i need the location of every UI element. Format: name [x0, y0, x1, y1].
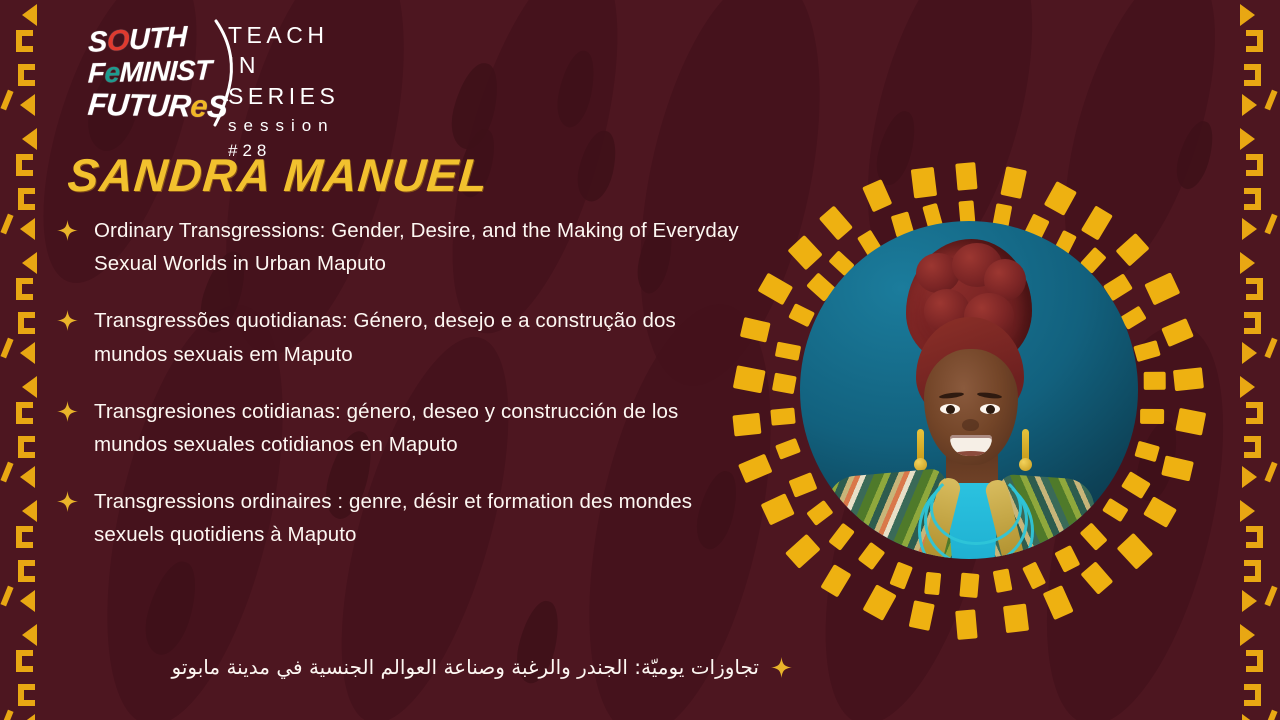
frame-dash [1173, 367, 1204, 391]
frame-dash [1081, 205, 1113, 240]
border-pattern-unit [0, 186, 46, 248]
border-pattern-unit [1234, 496, 1280, 558]
border-pattern-unit [0, 434, 46, 496]
border-pattern-unit [0, 558, 46, 620]
frame-dash [1140, 409, 1164, 424]
frame-dash [788, 303, 815, 327]
earring-right [1022, 429, 1029, 463]
frame-dash [1144, 372, 1166, 390]
frame-dash [770, 407, 795, 426]
title-item-fr: Transgressions ordinaires : genre, désir… [52, 485, 752, 551]
sparkle-icon [57, 491, 78, 512]
border-pattern-unit [1234, 620, 1280, 682]
frame-dash [1080, 561, 1113, 594]
frame-dash [1144, 272, 1180, 305]
speaker-name: Sandra Manuel [66, 148, 491, 202]
border-pattern-unit [0, 248, 46, 310]
sparkle-icon [57, 310, 78, 331]
teach-in-series-header: TEACH IN SERIES session #28 [228, 20, 339, 163]
frame-dash [889, 561, 913, 589]
frame-dash [862, 584, 896, 620]
border-pattern-unit [1234, 558, 1280, 620]
sparkle-icon [57, 401, 78, 422]
border-pattern-unit [0, 372, 46, 434]
title-text-en: Ordinary Transgressions: Gender, Desire,… [94, 214, 752, 280]
frame-dash [820, 564, 851, 597]
frame-dash [1001, 166, 1028, 199]
border-pattern-unit [0, 310, 46, 372]
border-pattern-unit [1234, 186, 1280, 248]
title-item-pt: Transgressões quotidianas: Género, desej… [52, 304, 752, 370]
frame-dash [1161, 455, 1194, 481]
border-pattern-unit [0, 682, 46, 720]
frame-dash [1116, 532, 1152, 569]
frame-dash [772, 373, 797, 394]
frame-dash [774, 342, 800, 361]
border-pattern-unit [0, 496, 46, 558]
frame-dash [955, 609, 977, 640]
frame-dash [1175, 407, 1206, 435]
frame-dash [960, 573, 980, 598]
frame-dash [955, 162, 977, 191]
border-pattern-right [1234, 0, 1280, 720]
frame-dash [760, 493, 794, 525]
title-text-es: Transgresiones cotidianas: género, deseo… [94, 395, 752, 461]
border-pattern-unit [1234, 434, 1280, 496]
sparkle-icon [771, 657, 792, 678]
frame-dash [1116, 232, 1150, 266]
frame-dash [775, 438, 801, 460]
frame-dash [992, 568, 1012, 593]
frame-dash [1121, 471, 1151, 499]
frame-dash [1133, 340, 1161, 362]
earring-left [917, 429, 924, 463]
logo-line-feminist: FeMINIST [87, 56, 212, 87]
border-pattern-unit [1234, 124, 1280, 186]
frame-dash [1143, 496, 1177, 528]
frame-dash [1043, 585, 1074, 620]
border-pattern-left [0, 0, 46, 720]
frame-dash [862, 178, 893, 211]
border-pattern-unit [1234, 310, 1280, 372]
speaker-portrait [738, 155, 1198, 645]
logo-line-futures: FUTUReS [87, 89, 229, 122]
border-pattern-unit [1234, 372, 1280, 434]
frame-dash [910, 166, 936, 198]
frame-dash [758, 272, 794, 305]
frame-dash [1043, 181, 1076, 216]
title-item-es: Transgresiones cotidianas: género, deseo… [52, 395, 752, 461]
header-line-in-series: IN SERIES [228, 50, 339, 111]
title-text-pt: Transgressões quotidianas: Género, desej… [94, 304, 752, 370]
border-pattern-unit [1234, 62, 1280, 124]
frame-dash [1003, 603, 1029, 633]
frame-dash [1102, 498, 1129, 522]
frame-dash [909, 600, 936, 631]
frame-dash [789, 472, 818, 497]
logo-line-south: SOUTH [88, 23, 187, 58]
frame-dash [787, 235, 822, 270]
title-item-en: Ordinary Transgressions: Gender, Desire,… [52, 214, 752, 280]
frame-dash [1022, 561, 1046, 589]
title-text-ar: تجاوزات يوميّة: الجندر والرغبة وصناعة ال… [52, 652, 759, 682]
header-line-teach: TEACH [228, 20, 339, 50]
border-pattern-unit [0, 0, 46, 62]
header-line-session: session [228, 114, 339, 139]
border-pattern-unit [0, 62, 46, 124]
frame-dash [1134, 441, 1160, 463]
title-translations-list: Ordinary Transgressions: Gender, Desire,… [52, 214, 752, 576]
title-item-ar: تجاوزات يوميّة: الجندر والرغبة وصناعة ال… [52, 652, 792, 682]
frame-dash [819, 205, 853, 240]
poster-canvas: SOUTH FeMINIST FUTUReS TEACH IN SERIES s… [0, 0, 1280, 720]
border-pattern-unit [0, 620, 46, 682]
face [924, 349, 1018, 465]
frame-dash [785, 533, 821, 568]
speaker-photo [800, 221, 1138, 559]
border-pattern-unit [0, 124, 46, 186]
frame-dash [1161, 318, 1194, 347]
sparkle-icon [57, 220, 78, 241]
frame-dash [924, 572, 941, 595]
title-text-fr: Transgressions ordinaires : genre, désir… [94, 485, 752, 551]
south-feminist-futures-logo[interactable]: SOUTH FeMINIST FUTUReS [88, 22, 206, 130]
border-pattern-unit [1234, 682, 1280, 720]
border-pattern-unit [1234, 248, 1280, 310]
border-pattern-unit [1234, 0, 1280, 62]
